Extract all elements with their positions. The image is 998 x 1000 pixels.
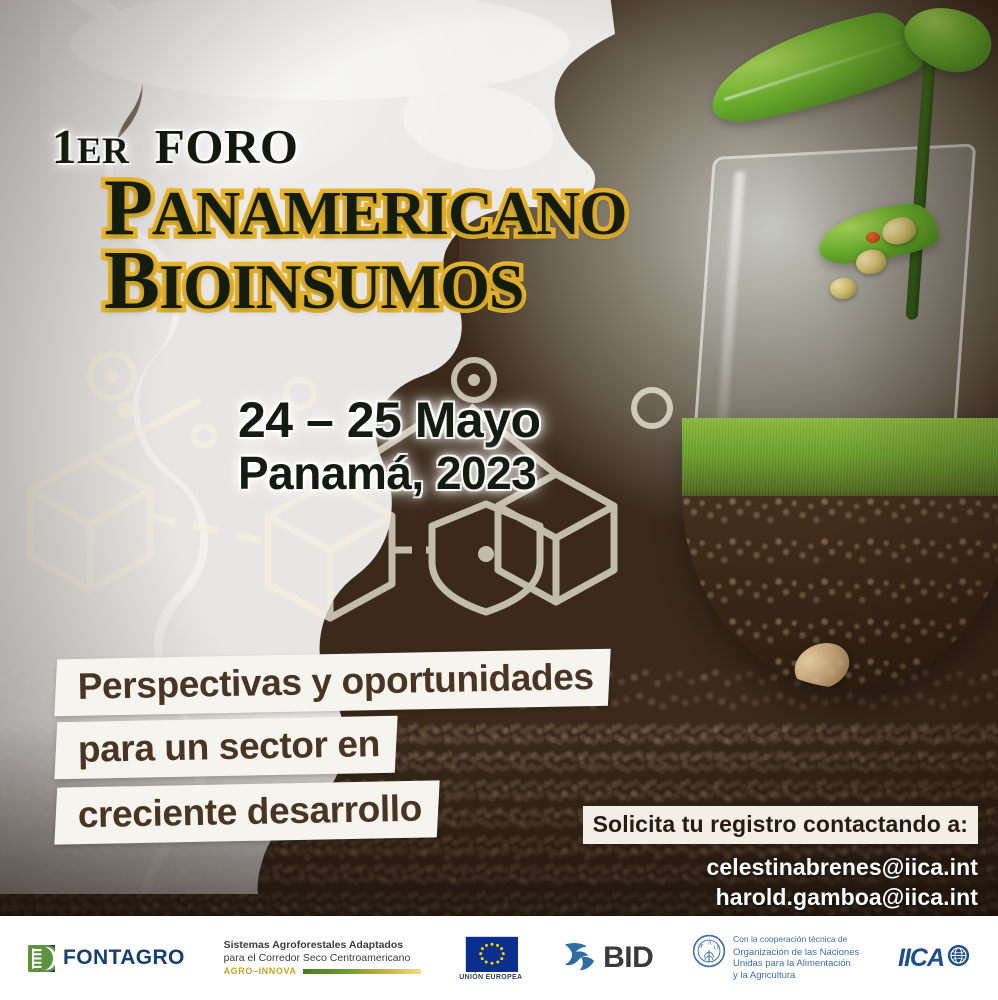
agro-innova-line-2: para el Corredor Seco Centroamericano [224,952,411,965]
svg-text:A: A [707,939,712,946]
title-line-1-rest: ANAMERICANO [152,180,627,248]
event-date-block: 24 – 25 Mayo Panamá, 2023 [238,392,541,500]
fao-name-line-1: Organización de las Naciones [733,947,859,959]
tagline-line: Perspectivas y oportunidades [54,649,611,717]
iica-globe-icon [947,944,970,972]
title-line-2-initial: B [104,234,159,327]
eyebrow-ordinal: 1 [52,119,77,174]
poster-eyebrow: 1ER FORO [52,118,298,175]
logo-iica: IICA [898,944,970,973]
poster-title: PANAMERICANO BIOINSUMOS [104,170,627,321]
agro-innova-gradient-bar [303,969,421,974]
fontagro-wordmark: FONTAGRO [63,946,185,970]
logo-fontagro: FONTAGRO [28,945,185,972]
contact-email[interactable]: harold.gamboa@iica.int [583,882,978,912]
fao-wheat-emblem-icon: F A O [692,934,726,973]
fontagro-wheat-mark-icon [28,945,55,972]
agro-innova-line-1: Sistemas Agroforestales Adaptados [224,939,404,952]
fao-name-line-2: Unidas para la Alimentación [733,958,859,970]
eyebrow-word: FORO [155,119,299,174]
iica-wordmark: IICA [898,944,944,973]
contact-email[interactable]: celestinabrenes@iica.int [583,852,978,882]
event-location-year: Panamá, 2023 [238,448,541,500]
event-poster: 1ER FORO PANAMERICANO BIOINSUMOS 24 – 25… [0,0,998,1000]
sponsor-footer: FONTAGRO Sistemas Agroforestales Adaptad… [0,916,998,1000]
event-dates: 24 – 25 Mayo [238,392,541,448]
fao-name-line-3: y la Agricultura [733,970,859,982]
title-line-2-rest: IOINSUMOS [159,251,523,322]
eu-flag-icon [465,936,517,971]
tagline-line: creciente desarrollo [54,780,439,844]
svg-text:F: F [700,943,704,950]
svg-text:O: O [714,944,719,951]
eu-label: UNIÓN EUROPEA [459,974,522,981]
logo-european-union: UNIÓN EUROPEA [459,936,522,981]
contact-heading: Solicita tu registro contactando a: [583,806,978,844]
fao-cooperation-label: Con la cooperación técnica de [733,934,859,945]
tagline-line: para un sector en [54,716,397,780]
logo-fao: F A O Con la cooperación técnica de Orga… [692,934,859,982]
poster-text-layer: 1ER FORO PANAMERICANO BIOINSUMOS 24 – 25… [0,0,998,1000]
agro-innova-brand: AGRO–INNOVA [224,966,297,977]
logo-agro-innova: Sistemas Agroforestales Adaptados para e… [224,939,421,977]
title-line-1: PANAMERICANO [104,170,627,247]
logo-bid: BID [561,939,653,977]
contact-block: Solicita tu registro contactando a: cele… [583,806,978,913]
bid-wordmark: BID [603,941,653,975]
poster-tagline: Perspectivas y oportunidades para un sec… [56,654,609,849]
title-line-2: BIOINSUMOS [104,241,627,322]
bid-swirl-icon [561,939,598,977]
